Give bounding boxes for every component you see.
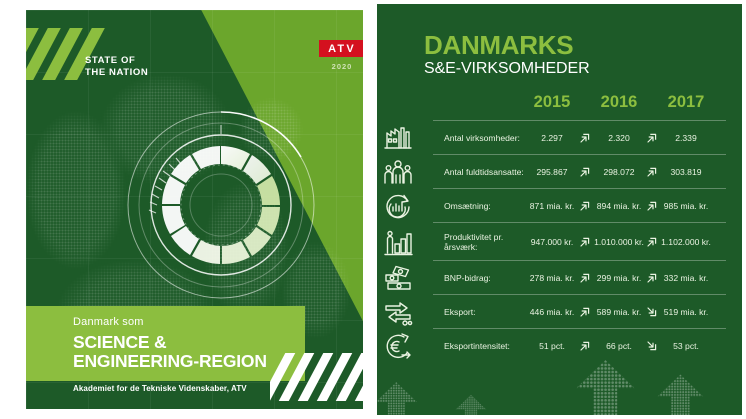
trend-up-icon bbox=[577, 165, 591, 179]
row-value-2015: 947.000 kr. bbox=[521, 237, 583, 247]
table-row: BNP-bidrag:278 mia. kr.299 mia. kr.332 m… bbox=[433, 260, 726, 294]
cover-eyebrow: STATE OF THE NATION bbox=[85, 55, 148, 78]
trend-down-icon bbox=[644, 305, 658, 319]
trend-up-icon bbox=[644, 199, 658, 213]
row-value-2016: 298.072 bbox=[588, 167, 650, 177]
row-value-2015: 2.297 bbox=[521, 133, 583, 143]
trend-up-icon bbox=[644, 165, 658, 179]
trend-up-icon bbox=[577, 339, 591, 353]
halftone-up-arrows-icon bbox=[377, 355, 742, 415]
cover-eyebrow-line1: STATE OF bbox=[85, 55, 148, 67]
revenue-cycle-icon bbox=[383, 191, 413, 221]
row-value-2017: 985 mia. kr. bbox=[655, 201, 717, 211]
row-value-2017: 519 mia. kr. bbox=[655, 307, 717, 317]
atv-logo-badge: ATV bbox=[319, 40, 363, 57]
bottom-diagonal-stripes-icon bbox=[270, 353, 363, 401]
trend-up-icon bbox=[644, 271, 658, 285]
row-value-2015: 278 mia. kr. bbox=[521, 273, 583, 283]
banknotes-icon bbox=[383, 263, 413, 293]
trend-up-icon bbox=[577, 199, 591, 213]
table-row: Omsætning:871 mia. kr.894 mia. kr.985 mi… bbox=[433, 188, 726, 222]
year-header-2017: 2017 bbox=[658, 93, 714, 112]
productivity-bars-icon bbox=[383, 227, 413, 257]
atv-logo-text: ATV bbox=[328, 43, 356, 55]
data-panel-heading: DANMARKS S&E-VIRKSOMHEDER bbox=[424, 32, 590, 78]
row-value-2016: 299 mia. kr. bbox=[588, 273, 650, 283]
cover-eyebrow-line2: THE NATION bbox=[85, 67, 148, 79]
trend-up-icon bbox=[577, 305, 591, 319]
row-value-2015: 446 mia. kr. bbox=[521, 307, 583, 317]
cover-title-line1: SCIENCE & bbox=[73, 333, 267, 352]
page-title: DANMARKS bbox=[424, 32, 590, 59]
table-row: Produktivitet pr. årsværk:947.000 kr.1.0… bbox=[433, 222, 726, 260]
statistics-table: Antal virksomheder:2.2972.3202.339 Antal… bbox=[377, 120, 742, 362]
table-row: Antal fuldtidsansatte:295.867298.072303.… bbox=[433, 154, 726, 188]
row-value-2017: 2.339 bbox=[655, 133, 717, 143]
cover-title: SCIENCE & ENGINEERING-REGION bbox=[73, 333, 267, 371]
page-subtitle: S&E-VIRKSOMHEDER bbox=[424, 60, 590, 78]
cover-title-line2: ENGINEERING-REGION bbox=[73, 352, 267, 371]
row-value-2017: 53 pct. bbox=[655, 341, 717, 351]
trend-up-icon bbox=[577, 131, 591, 145]
row-value-2016: 66 pct. bbox=[588, 341, 650, 351]
table-row: Eksport:446 mia. kr.589 mia. kr.519 mia.… bbox=[433, 294, 726, 328]
trend-up-icon bbox=[577, 271, 591, 285]
trend-up-icon bbox=[644, 131, 658, 145]
data-artboard: DANMARKS S&E-VIRKSOMHEDER 2015 2016 2017… bbox=[377, 4, 742, 415]
year-column-headers: 2015 2016 2017 bbox=[377, 93, 742, 115]
row-value-2016: 589 mia. kr. bbox=[588, 307, 650, 317]
cover-byline: Akademiet for de Tekniske Videnskaber, A… bbox=[73, 384, 247, 393]
row-value-2016: 894 mia. kr. bbox=[588, 201, 650, 211]
row-value-2015: 871 mia. kr. bbox=[521, 201, 583, 211]
factory-icon bbox=[383, 123, 413, 153]
cover-artboard: STATE OF THE NATION ATV 2020 Danmark som… bbox=[26, 10, 363, 409]
circular-hud-graphic-icon bbox=[121, 105, 321, 305]
year-header-2015: 2015 bbox=[524, 93, 580, 112]
right-data-panel: DANMARKS S&E-VIRKSOMHEDER 2015 2016 2017… bbox=[373, 0, 746, 419]
year-header-2016: 2016 bbox=[591, 93, 647, 112]
row-value-2015: 51 pct. bbox=[521, 341, 583, 351]
row-value-2016: 1.010.000 kr. bbox=[588, 237, 650, 247]
left-cover-panel: STATE OF THE NATION ATV 2020 Danmark som… bbox=[0, 0, 373, 419]
trend-up-icon bbox=[644, 235, 658, 249]
trend-up-icon bbox=[577, 235, 591, 249]
row-value-2015: 295.867 bbox=[521, 167, 583, 177]
export-globe-icon bbox=[383, 297, 413, 327]
cover-title-box: Danmark som SCIENCE & ENGINEERING-REGION bbox=[26, 306, 305, 381]
row-value-2017: 303.819 bbox=[655, 167, 717, 177]
trend-down-icon bbox=[644, 339, 658, 353]
poster-stage: STATE OF THE NATION ATV 2020 Danmark som… bbox=[0, 0, 746, 419]
table-row: Antal virksomheder:2.2972.3202.339 bbox=[433, 120, 726, 154]
row-value-2017: 1.102.000 kr. bbox=[655, 237, 717, 247]
cover-kicker: Danmark som bbox=[73, 316, 144, 328]
row-value-2017: 332 mia. kr. bbox=[655, 273, 717, 283]
row-value-2016: 2.320 bbox=[588, 133, 650, 143]
atv-logo-year: 2020 bbox=[319, 62, 363, 71]
people-group-icon bbox=[383, 157, 413, 187]
